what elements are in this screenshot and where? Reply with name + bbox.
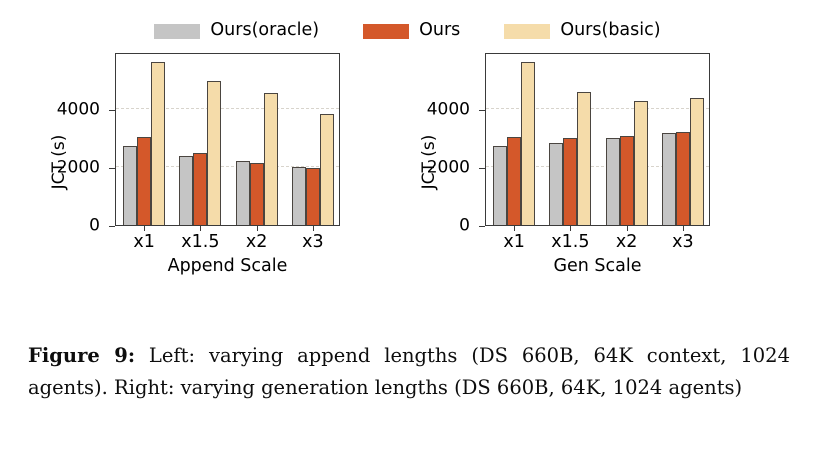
bar-group [285,54,339,225]
legend-label: Ours [419,22,460,40]
y-axis-tick-label: 2000 [57,159,100,176]
caption-text: Left: varying append lengths (DS 660B, 6… [28,344,790,399]
x-axis-tick [514,225,515,231]
x-axis-tick-label: x3 [672,234,694,252]
panel-right-inner: JCT (s) 020004000 x1x1.5x2x3 Gen Scale [425,50,745,295]
x-axis-tick-label: x2 [246,234,268,252]
y-axis-tick-label: 4000 [427,101,470,118]
bar[interactable] [207,81,221,226]
x-axis-tick [144,225,145,231]
y-axis-tick-label: 2000 [427,159,470,176]
bar-group [542,54,598,225]
legend-swatch-icon [154,24,200,39]
bar[interactable] [137,137,151,225]
bar[interactable] [292,167,306,225]
bar[interactable] [236,161,250,225]
x-axis-tick-label: x3 [302,234,324,252]
bar[interactable] [306,168,320,225]
figure-9: Ours(oracle)OursOurs(basic) JCT (s) 0200… [0,0,815,300]
legend-entry: Ours [363,22,460,40]
x-axis-tick [200,225,201,231]
x-axis-label-right: Gen Scale [485,256,710,276]
legend-label: Ours(oracle) [210,22,319,40]
bar[interactable] [123,146,137,225]
bar[interactable] [250,163,264,225]
plot-inner-left [116,54,339,225]
bar[interactable] [521,62,535,225]
legend-swatch-icon [363,24,409,39]
bar-group [116,54,172,225]
bar[interactable] [563,138,577,225]
legend-label: Ours(basic) [560,22,660,40]
chart-panel-left: JCT (s) 020004000 x1x1.5x2x3 Append Scal… [55,50,375,295]
y-axis-tick [109,226,115,227]
x-axis-tick [313,225,314,231]
x-axis-tick-label: x2 [616,234,638,252]
bar[interactable] [634,101,648,225]
bar[interactable] [662,133,676,225]
panel-left-inner: JCT (s) 020004000 x1x1.5x2x3 Append Scal… [55,50,375,295]
chart-panel-right: JCT (s) 020004000 x1x1.5x2x3 Gen Scale [425,50,745,295]
chart-legend: Ours(oracle)OursOurs(basic) [0,16,815,46]
x-axis-label-left: Append Scale [115,256,340,276]
x-axis-tick-label: x1.5 [181,234,219,252]
bar[interactable] [179,156,193,225]
bar-group [172,54,228,225]
y-axis-tick-label: 4000 [57,101,100,118]
bar[interactable] [264,93,278,225]
figure-caption: Figure 9: Left: varying append lengths (… [28,340,790,403]
legend-swatch-icon [504,24,550,39]
x-axis-tick-label: x1 [503,234,525,252]
legend-entry: Ours(oracle) [154,22,319,40]
bar-group [486,54,542,225]
bar[interactable] [606,138,620,225]
plot-area-left: x1x1.5x2x3 [115,53,340,226]
x-axis-tick [570,225,571,231]
caption-label: Figure 9: [28,344,135,367]
bar-group [599,54,655,225]
y-axis-tick-label: 0 [89,218,100,235]
bar[interactable] [493,146,507,225]
legend-entry: Ours(basic) [504,22,660,40]
x-axis-tick [683,225,684,231]
bar-group [229,54,285,225]
y-axis-tick-label: 0 [459,218,470,235]
bar[interactable] [577,92,591,225]
bar[interactable] [507,137,521,225]
plot-area-right: x1x1.5x2x3 [485,53,710,226]
x-axis-tick [257,225,258,231]
bar[interactable] [549,143,563,225]
x-axis-tick-label: x1 [133,234,155,252]
bar-group [655,54,709,225]
y-axis-tick [479,226,485,227]
bar[interactable] [690,98,704,225]
bar[interactable] [151,62,165,225]
x-axis-tick [627,225,628,231]
x-axis-tick-label: x1.5 [551,234,589,252]
bar[interactable] [620,136,634,225]
bar[interactable] [193,153,207,225]
bar[interactable] [320,114,334,225]
bar[interactable] [676,132,690,225]
plot-inner-right [486,54,709,225]
